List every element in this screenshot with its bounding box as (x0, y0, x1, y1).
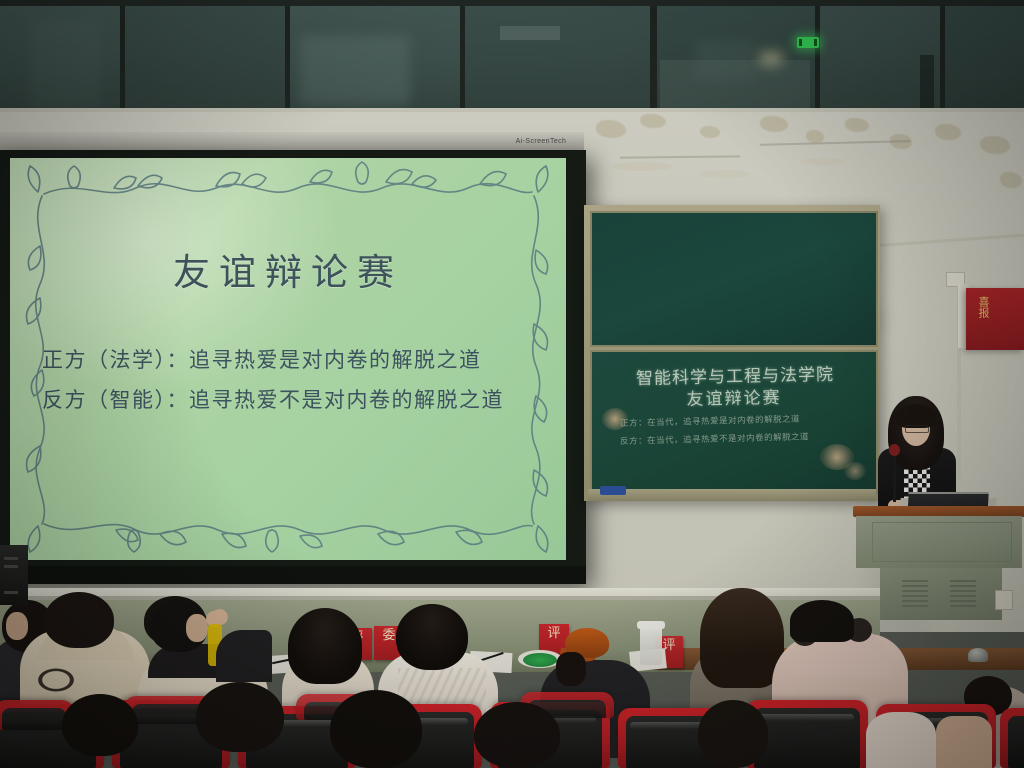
screen-bottom-bar (0, 566, 586, 584)
podium-vent-right (950, 580, 976, 610)
front-row-head (196, 682, 284, 752)
blackboard-small-line-negative: 反方：在当代，追寻热爱不是对内卷的解脱之道 (620, 429, 862, 447)
auditorium-seat[interactable] (1000, 708, 1024, 768)
student-hair (556, 652, 586, 686)
podium-base (880, 568, 1002, 620)
front-row-hand (936, 716, 992, 768)
microphone-stem (893, 450, 896, 502)
banner-text: 喜报 (976, 296, 990, 318)
slide-line-negative: 反方（智能）：追寻热爱不是对内卷的解脱之道 (42, 380, 544, 420)
podium-vent-left (902, 580, 928, 610)
service-bell[interactable] (968, 648, 988, 662)
slide-title: 友谊辩论赛 (10, 242, 566, 296)
wall-banner: 喜报 (966, 288, 1024, 350)
podium-panel (872, 522, 1012, 562)
front-row-head (62, 694, 138, 756)
chalk-flower-left (602, 408, 628, 430)
microphone-head-icon (889, 444, 900, 456)
student-head-brown-hair (700, 588, 784, 688)
hoodie-bear-print (28, 668, 84, 698)
lecture-hall-photo: Ai-ScreenTech (0, 0, 1024, 768)
projector-equipment-box (0, 545, 28, 605)
drink-cup (640, 625, 662, 665)
presentation-slide: 友谊辩论赛 正方（法学）：追寻热爱是对内卷的解脱之道 反方（智能）：追寻热爱不是… (10, 158, 566, 560)
student-head (44, 592, 114, 648)
blackboard-eraser (600, 486, 626, 495)
front-row-head (698, 700, 768, 768)
blackboard-upper-panel (590, 211, 878, 347)
upper-glass-wall (0, 0, 1024, 120)
blackboard-headline-line2: 友谊辩论赛 (622, 382, 846, 411)
screen-brand-label: Ai-ScreenTech (498, 136, 584, 147)
exit-sign-icon (797, 37, 819, 48)
person-face (6, 612, 28, 640)
green-note-pad (523, 653, 557, 667)
blackboard-small-line-affirmative: 正方：在当代，追寻热爱是对内卷的解脱之道 (620, 411, 862, 429)
chalk-tray (588, 489, 876, 501)
projector-screen: 友谊辩论赛 正方（法学）：追寻热爱是对内卷的解脱之道 反方（智能）：追寻热爱不是… (0, 150, 586, 582)
slide-line-affirmative: 正方（法学）：追寻热爱是对内卷的解脱之道 (42, 340, 544, 380)
student-face (186, 614, 208, 642)
speaker-glasses (905, 425, 929, 433)
chalk-flower-right-small (844, 462, 866, 480)
drink-cup-lid (637, 621, 665, 629)
front-row-person (866, 712, 936, 768)
student-arm-sleeve (216, 630, 272, 682)
wall-outlet[interactable] (995, 590, 1013, 610)
front-row-head (330, 690, 422, 768)
front-row-head (474, 702, 560, 768)
slide-body: 正方（法学）：追寻热爱是对内卷的解脱之道 反方（智能）：追寻热爱不是对内卷的解脱… (42, 340, 544, 420)
student-head (790, 600, 854, 642)
student-head-long-hair (288, 608, 362, 684)
blackboard-lower-panel: 智能科学与工程与法学院 友谊辩论赛 正方：在当代，追寻热爱是对内卷的解脱之道 反… (590, 350, 878, 495)
student-head (396, 604, 468, 670)
